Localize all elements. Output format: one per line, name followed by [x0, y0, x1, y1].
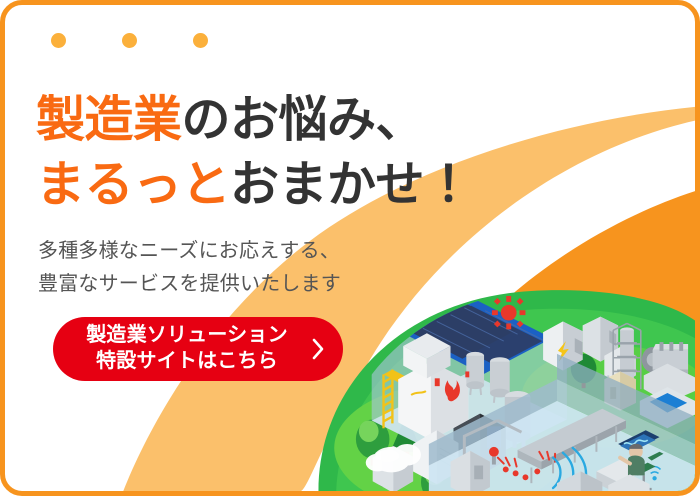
decorative-dot-1 — [51, 33, 66, 48]
water-pool — [640, 387, 695, 428]
cta-button[interactable]: 製造業ソリューション 特設サイトはこちら — [53, 317, 343, 381]
solar-panel-roof — [399, 296, 552, 374]
wifi-icon-small — [648, 467, 661, 480]
cta-label-line-1: 製造業ソリューション — [75, 323, 299, 349]
ground-hill-light-2 — [522, 346, 695, 448]
cta-label-line-2: 特設サイトはこちら — [75, 349, 299, 375]
cta-button-label: 製造業ソリューション 特設サイトはこちら — [75, 323, 299, 374]
headline-line-2: まるっとおまかせ！ — [36, 153, 473, 218]
wifi-signal-waves — [553, 448, 586, 491]
decorative-dots — [51, 33, 208, 48]
signal-lamp — [489, 447, 499, 457]
subtitle-line-2: 豊富なサービスを提供いたします — [38, 268, 341, 301]
trees-left — [356, 415, 457, 491]
sensor-nodes — [503, 467, 540, 481]
reactor-machine — [642, 342, 695, 403]
production-floor — [429, 354, 695, 491]
subtitle-line-1: 多種多様なニーズにお応えする、 — [38, 235, 341, 268]
headline-line-1: 製造業のお悩み、 — [36, 88, 473, 153]
control-cabinet — [451, 447, 499, 491]
headline-accent-1: 製造業 — [36, 93, 182, 147]
water-tank — [505, 391, 531, 448]
factory-building — [372, 296, 567, 468]
chevron-right-icon — [311, 338, 325, 360]
distillation-tower — [604, 323, 640, 410]
decorative-dot-3 — [193, 33, 208, 48]
transformer-substation — [543, 317, 636, 390]
conveyor-line — [464, 409, 626, 483]
steam-cloud — [366, 444, 421, 472]
flame-icon — [445, 380, 460, 401]
ground-hill-light — [334, 383, 567, 491]
boiler-unit-dark — [454, 414, 506, 476]
sensor-rays — [498, 452, 555, 467]
promo-banner: 製造業のお悩み、 まるっとおまかせ！ 多種多様なニーズにお応えする、 豊富なサー… — [0, 0, 700, 496]
control-room-worker — [596, 430, 663, 491]
red-sun-icon — [492, 296, 526, 329]
headline-rest-1: のお悩み、 — [182, 93, 425, 147]
lightning-bolt-icon — [558, 341, 569, 362]
yellow-ladder — [384, 370, 408, 429]
headline-accent-2: まるっと — [36, 158, 230, 212]
headline: 製造業のお悩み、 まるっとおまかせ！ — [36, 88, 473, 217]
ground-hill-dark — [318, 290, 695, 491]
decorative-dot-2 — [122, 33, 137, 48]
swoosh-solid — [374, 191, 695, 491]
air-conditioning-units — [373, 430, 459, 491]
trees-right — [571, 354, 675, 388]
storage-tanks — [465, 352, 509, 403]
headline-rest-2: おまかせ！ — [230, 158, 473, 212]
subtitle: 多種多様なニーズにお応えする、 豊富なサービスを提供いたします — [38, 235, 341, 301]
floor-machines — [557, 471, 650, 491]
ground-hill-mid — [336, 309, 695, 491]
